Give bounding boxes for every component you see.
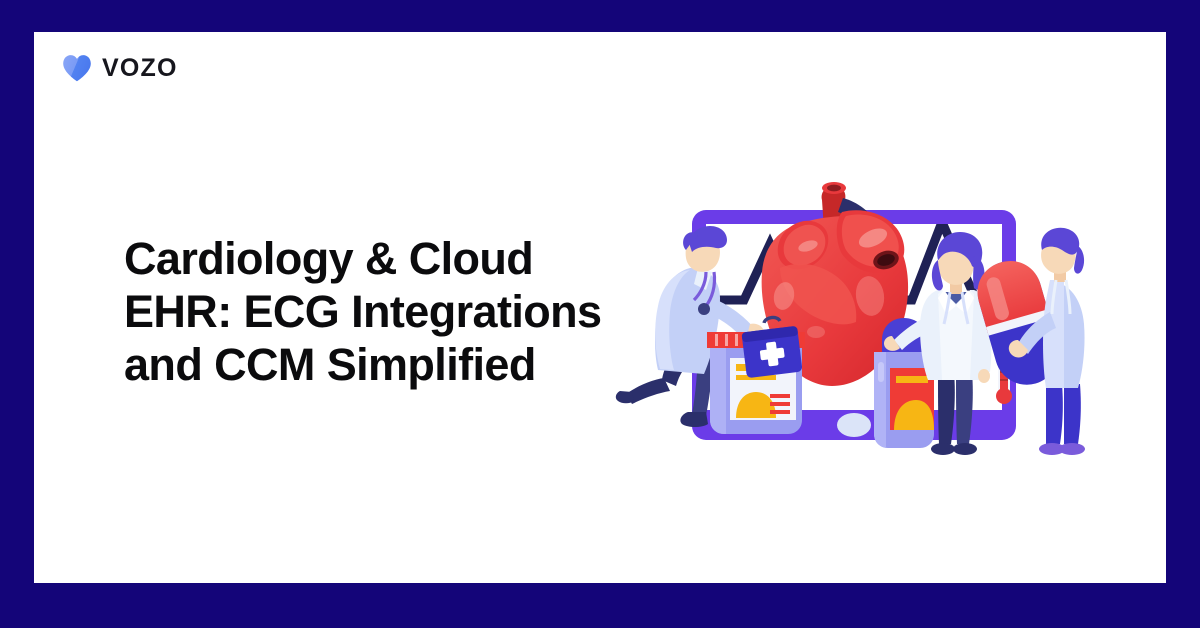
logo[interactable]: VOZO xyxy=(62,54,178,82)
content-card: VOZO Cardiology & Cloud EHR: ECG Integra… xyxy=(34,32,1166,583)
tablet-home-button[interactable] xyxy=(837,413,871,437)
cardiology-ehr-illustration xyxy=(594,172,1114,472)
page-title: Cardiology & Cloud EHR: ECG Integrations… xyxy=(124,232,664,391)
banner-frame: VOZO Cardiology & Cloud EHR: ECG Integra… xyxy=(0,0,1200,628)
logo-wordmark: VOZO xyxy=(102,56,178,81)
heart-icon xyxy=(62,54,92,82)
